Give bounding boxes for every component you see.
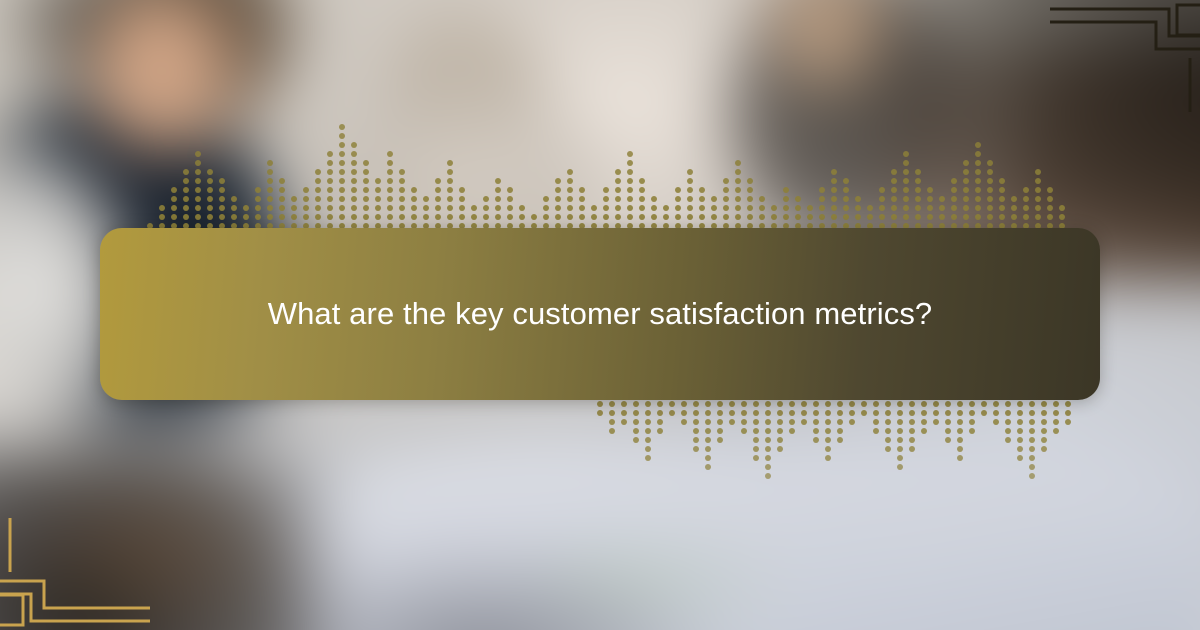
question-card: What are the key customer satisfaction m… (100, 228, 1100, 400)
question-text: What are the key customer satisfaction m… (268, 287, 933, 340)
og-card-canvas: What are the key customer satisfaction m… (0, 0, 1200, 630)
